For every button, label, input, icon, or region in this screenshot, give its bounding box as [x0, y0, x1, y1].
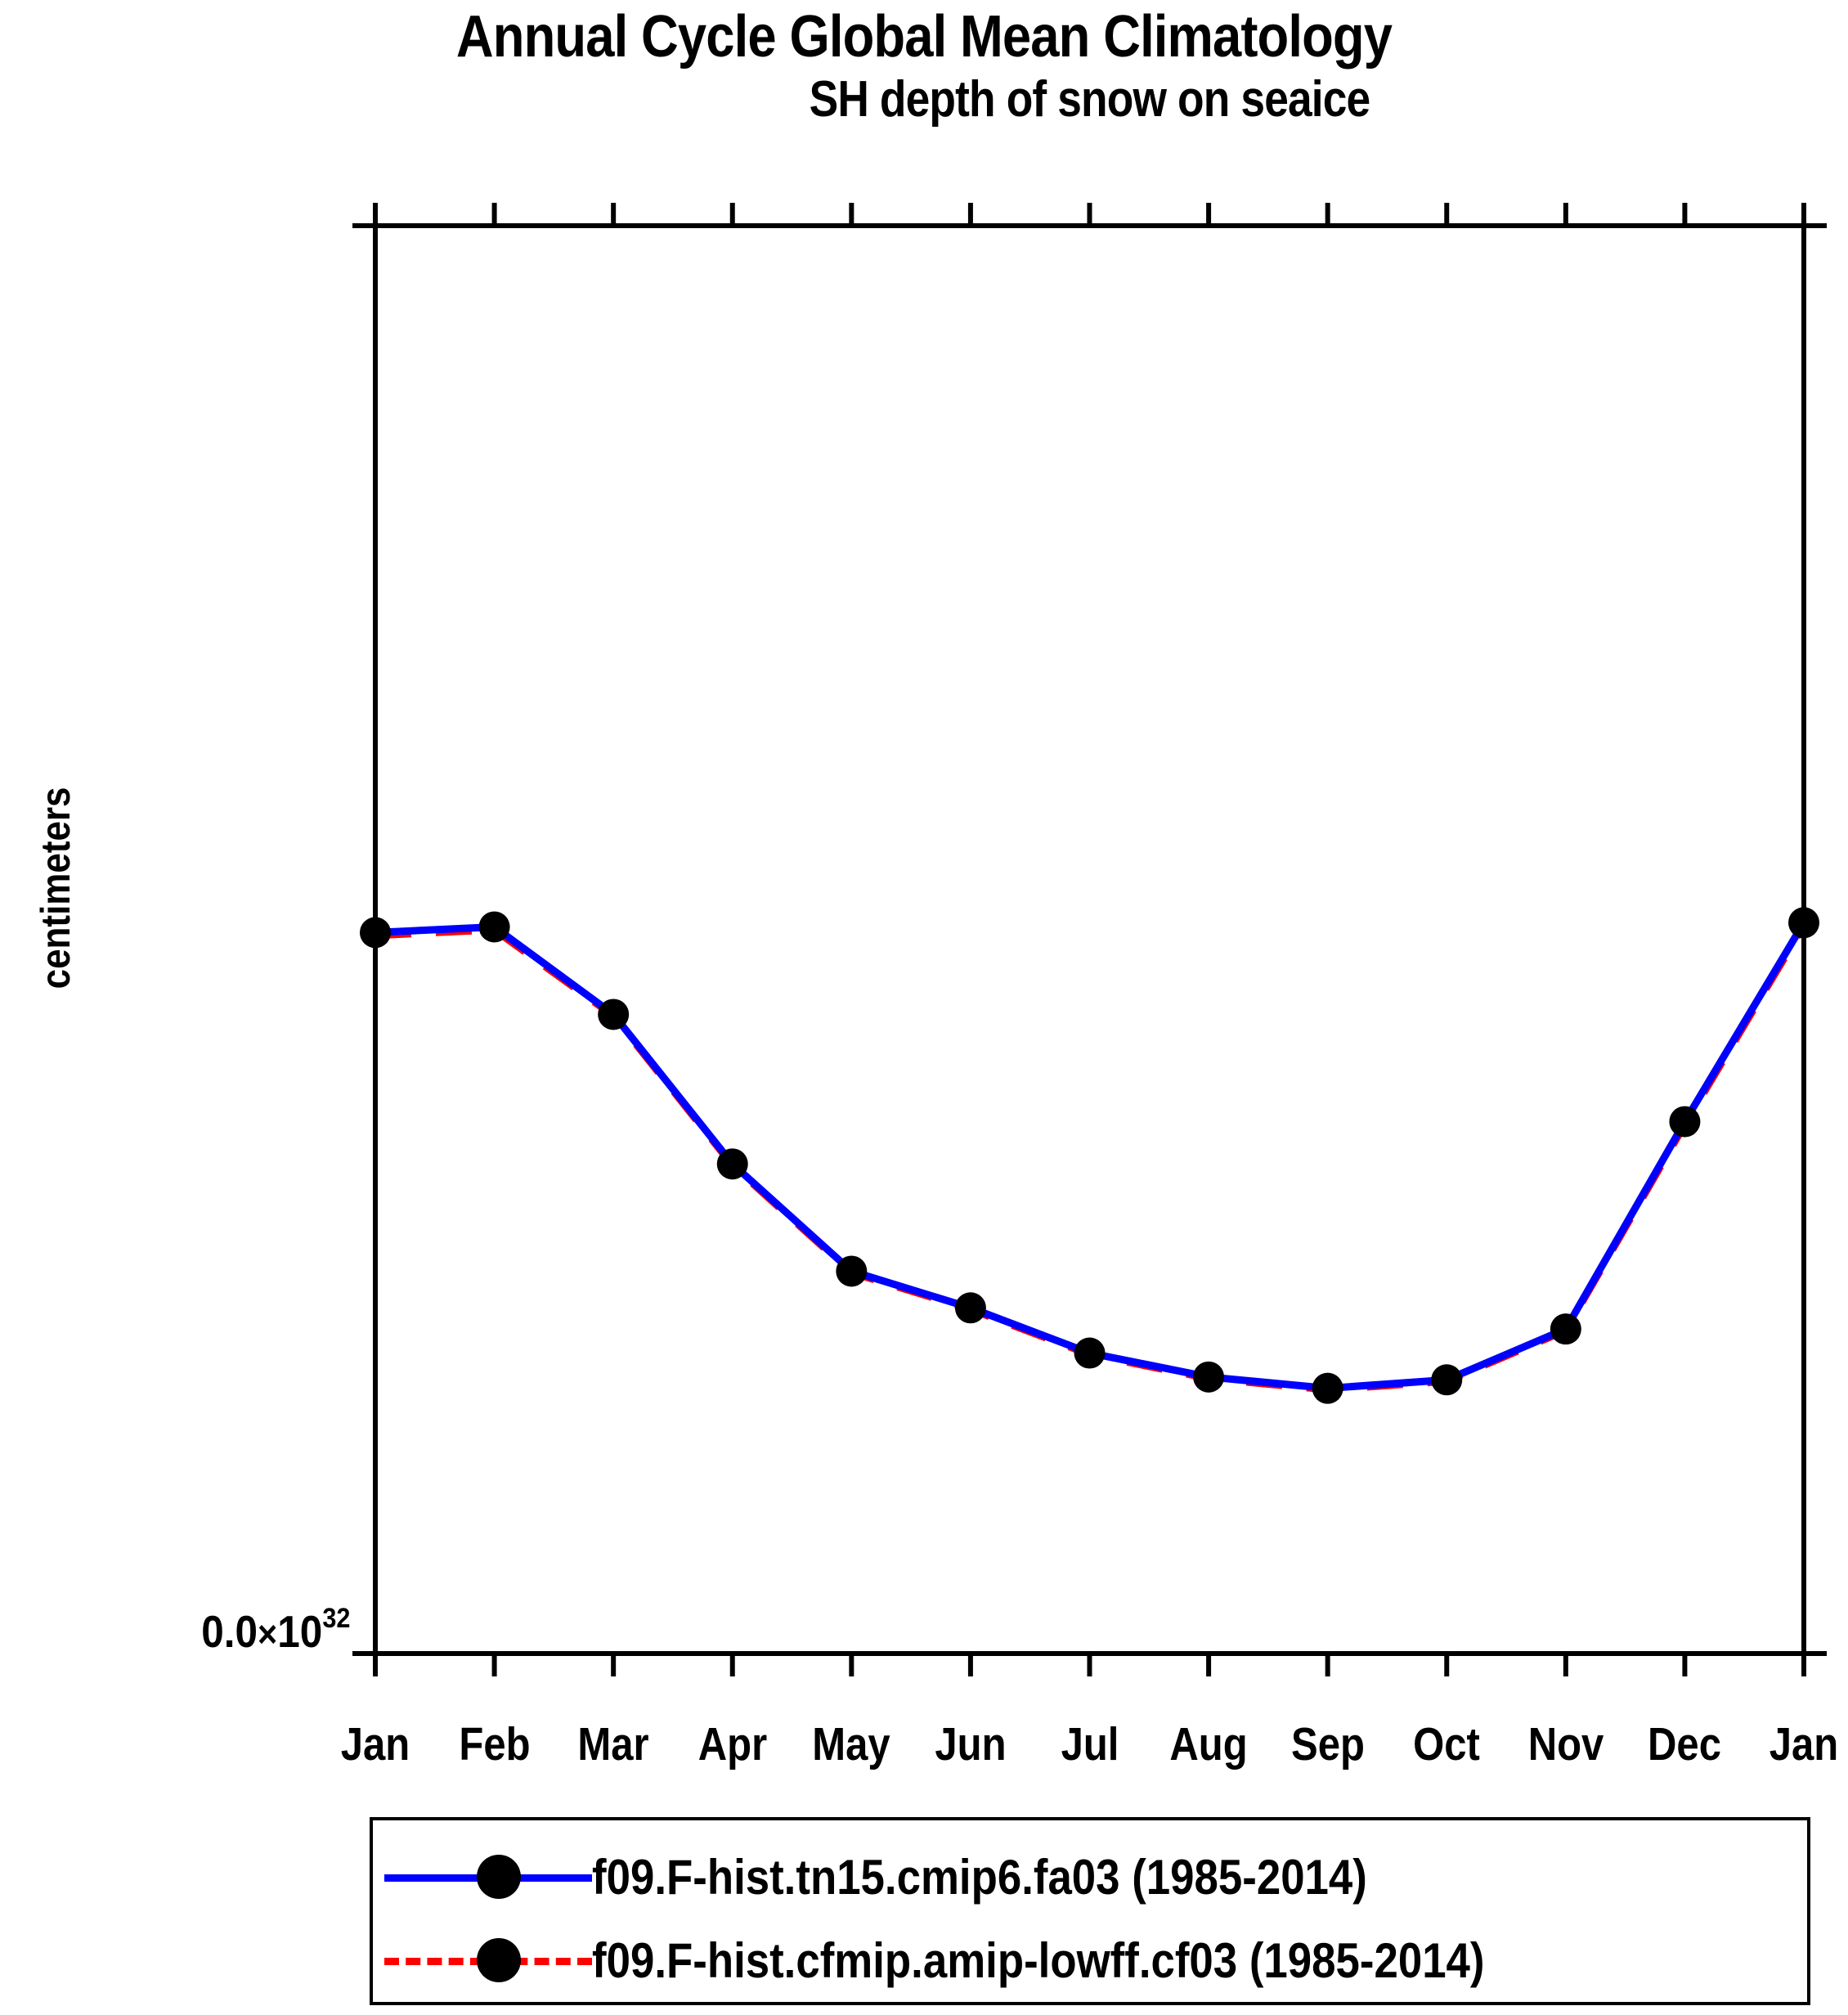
x-axis-tick-labels: JanFebMarAprMayJunJulAugSepOctNovDecJan [0, 1717, 1848, 1783]
legend-item-label: f09.F-hist.cfmip.amip-lowff.cf03 (1985-2… [592, 1936, 1485, 1986]
axis-frame [375, 226, 1804, 1654]
plot-area [0, 0, 1848, 2015]
series-markers [360, 907, 1819, 1403]
legend-item-label: f09.F-hist.tn15.cmip6.fa03 (1985-2014) [592, 1853, 1367, 1902]
chart-canvas: Annual Cycle Global Mean Climatology SH … [0, 0, 1848, 2015]
legend-item[interactable]: f09.F-hist.tn15.cmip6.fa03 (1985-2014) [373, 1845, 1807, 1910]
legend-swatch-line-icon [384, 1936, 592, 1986]
legend-swatch-line-icon [384, 1853, 592, 1902]
x-axis-tick-label: Jan [1734, 1717, 1848, 1771]
series-line-blue [375, 922, 1804, 1388]
axis-ticks [352, 203, 1827, 1676]
legend-item[interactable]: f09.F-hist.cfmip.amip-lowff.cf03 (1985-2… [373, 1928, 1807, 1994]
legend: f09.F-hist.tn15.cmip6.fa03 (1985-2014) f… [370, 1817, 1810, 2005]
legend-marker-icon [477, 1855, 521, 1899]
legend-marker-icon [477, 1938, 521, 1982]
